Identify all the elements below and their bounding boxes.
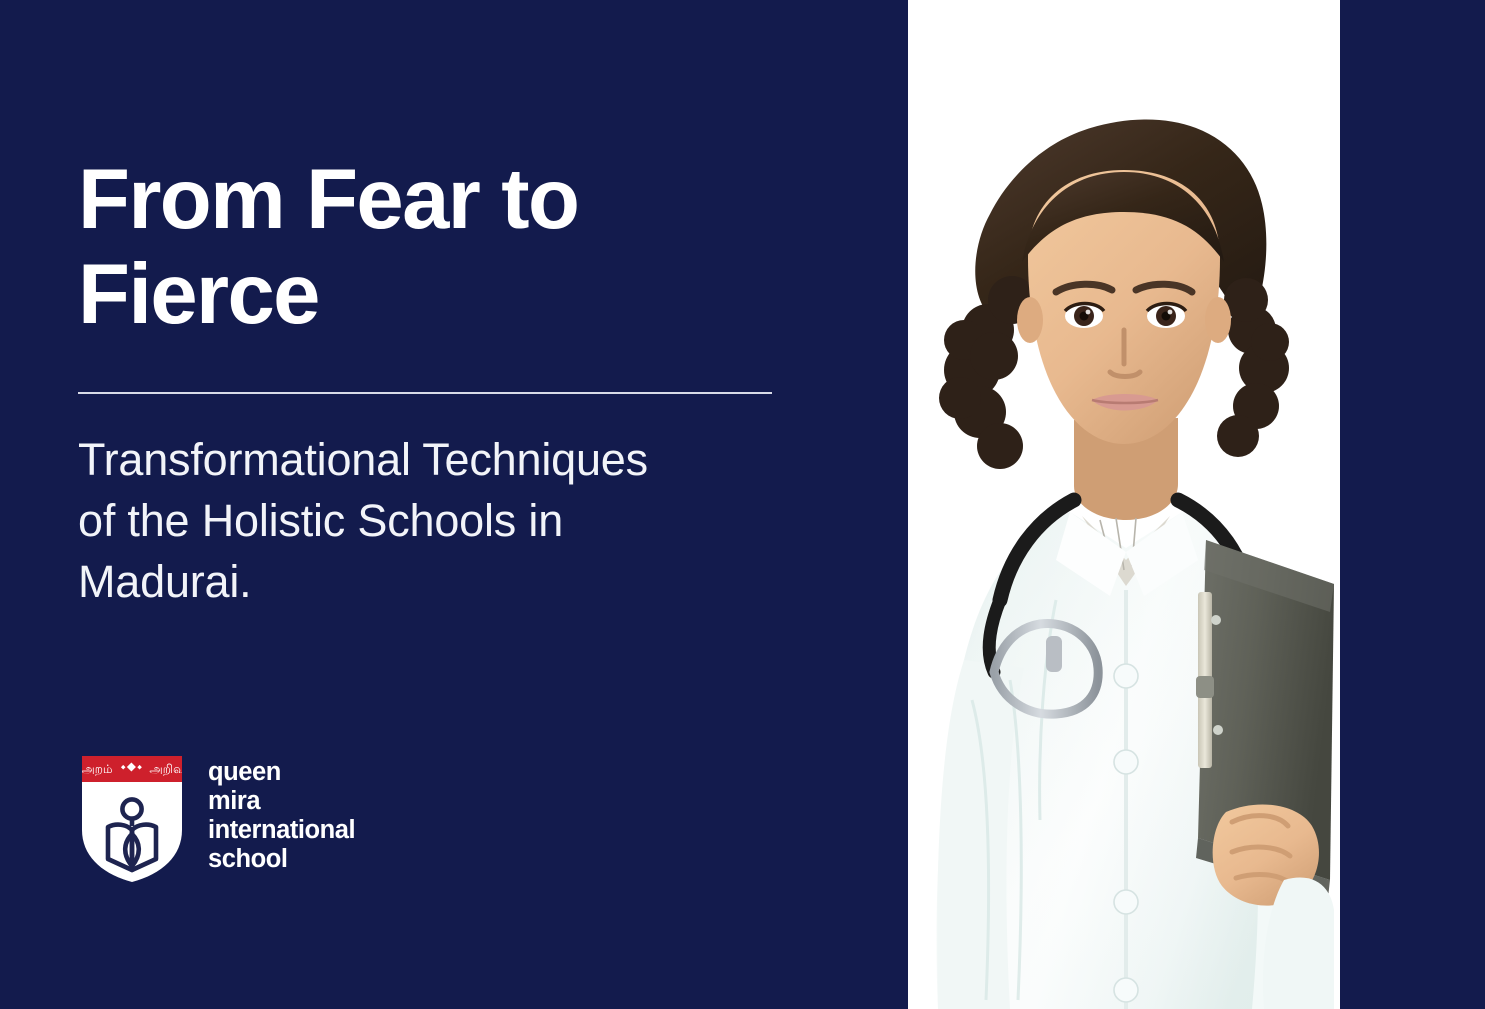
subhead-line-3: Madurai. (78, 556, 251, 607)
photo-panel (908, 0, 1340, 1009)
shield-banner-text-right: அறிவு (149, 762, 184, 776)
page-subtitle: Transformational Techniques of the Holis… (78, 429, 788, 613)
headline-line-2: Fierce (78, 247, 319, 342)
banner-background: From Fear to Fierce Transformational Tec… (0, 0, 1485, 1009)
subhead-line-2: of the Holistic Schools in (78, 495, 563, 546)
logo-lockup: அறம் அறிவு (78, 752, 355, 884)
text-column: From Fear to Fierce Transformational Tec… (78, 0, 838, 1009)
subhead-line-1: Transformational Techniques (78, 434, 648, 485)
headline-line-1: From Fear to (78, 152, 578, 247)
wordmark-line-4: school (208, 845, 355, 874)
page-title: From Fear to Fierce (78, 152, 798, 342)
divider (78, 392, 772, 394)
wordmark-line-2: mira (208, 787, 355, 816)
wordmark-line-1: queen (208, 758, 355, 787)
wordmark-line-3: international (208, 816, 355, 845)
shield-banner-text-left: அறம் (81, 762, 112, 776)
school-shield-logo: அறம் அறிவு (78, 752, 186, 884)
school-wordmark: queen mira international school (208, 752, 355, 874)
